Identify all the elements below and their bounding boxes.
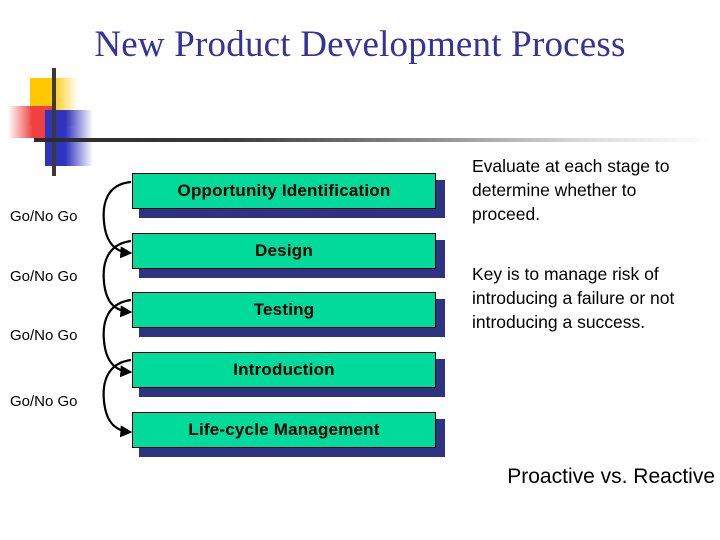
stage-box-face: Introduction [132,352,436,388]
stage-box-opportunity-identification[interactable]: Opportunity Identification [132,173,438,211]
stage-label: Opportunity Identification [178,181,391,201]
note-risk: Key is to manage risk of introducing a f… [472,262,702,334]
stage-box-face: Design [132,233,436,269]
process-flow-diagram: Opportunity Identification Design Testin… [0,0,460,540]
stage-label: Testing [254,300,315,320]
stage-box-life-cycle-management[interactable]: Life-cycle Management [132,412,438,450]
stage-box-face: Opportunity Identification [132,173,436,209]
stage-label: Life-cycle Management [188,420,379,440]
flow-arrow-2 [104,241,131,312]
flow-arrow-3 [104,300,131,372]
gate-label-3: Go/No Go [10,327,78,344]
flow-arrow-4 [104,360,131,432]
note-evaluate: Evaluate at each stage to determine whet… [472,154,702,226]
stage-box-testing[interactable]: Testing [132,292,438,330]
stage-box-face: Life-cycle Management [132,412,436,448]
gate-label-4: Go/No Go [10,393,78,410]
gate-label-2: Go/No Go [10,268,78,285]
stage-box-introduction[interactable]: Introduction [132,352,438,390]
flow-arrow-1 [104,182,131,253]
stage-label: Introduction [233,360,335,380]
footer-caption: Proactive vs. Reactive [380,465,715,489]
stage-box-face: Testing [132,292,436,328]
stage-box-design[interactable]: Design [132,233,438,271]
stage-label: Design [255,241,313,261]
gate-label-1: Go/No Go [10,208,78,225]
